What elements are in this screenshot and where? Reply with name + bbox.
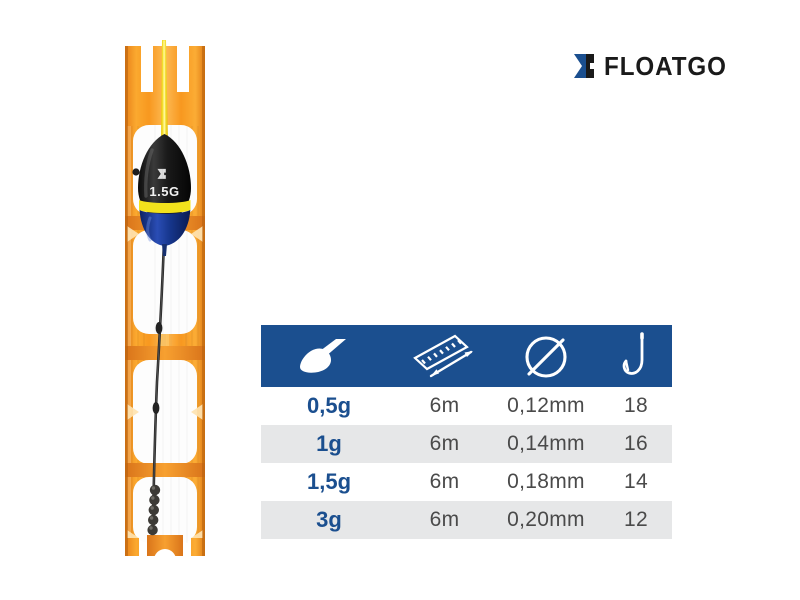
cell-hook: 12 [600, 501, 672, 539]
table-header-float [261, 325, 397, 387]
table-row: 3g 6m 0,20mm 12 [261, 501, 672, 539]
table-header-hook [600, 325, 672, 387]
float-icon [296, 336, 362, 376]
brand-logo: FLOATGO [573, 52, 736, 80]
cell-weight: 0,5g [261, 387, 397, 425]
table-header-row [261, 325, 672, 387]
float-rig-winder-illustration: 1.5G [105, 30, 225, 570]
cell-diameter: 0,20mm [492, 501, 600, 539]
specification-table: 0,5g 6m 0,12mm 18 1g 6m 0,14mm 16 1,5g 6… [261, 325, 672, 539]
cell-length: 6m [397, 387, 492, 425]
cell-hook: 16 [600, 425, 672, 463]
float-weight-label: 1.5G [149, 184, 179, 199]
table-header-length [397, 325, 492, 387]
cell-length: 6m [397, 501, 492, 539]
cell-diameter: 0,18mm [492, 463, 600, 501]
cell-diameter: 0,14mm [492, 425, 600, 463]
cell-length: 6m [397, 463, 492, 501]
cell-hook: 18 [600, 387, 672, 425]
diameter-icon [517, 330, 575, 382]
table-row: 1g 6m 0,14mm 16 [261, 425, 672, 463]
table-row: 0,5g 6m 0,12mm 18 [261, 387, 672, 425]
cell-weight: 1,5g [261, 463, 397, 501]
cell-weight: 1g [261, 425, 397, 463]
table-row: 1,5g 6m 0,18mm 14 [261, 463, 672, 501]
cell-diameter: 0,12mm [492, 387, 600, 425]
cell-hook: 14 [600, 463, 672, 501]
cell-weight: 3g [261, 501, 397, 539]
product-image: 1.5G [105, 30, 225, 570]
fish-hook-icon [616, 330, 656, 382]
ruler-length-icon [411, 332, 479, 380]
brand-name: FLOATGO [604, 53, 727, 79]
floatgo-arrow-mark-icon [573, 52, 599, 80]
cell-length: 6m [397, 425, 492, 463]
table-header-diameter [492, 325, 600, 387]
